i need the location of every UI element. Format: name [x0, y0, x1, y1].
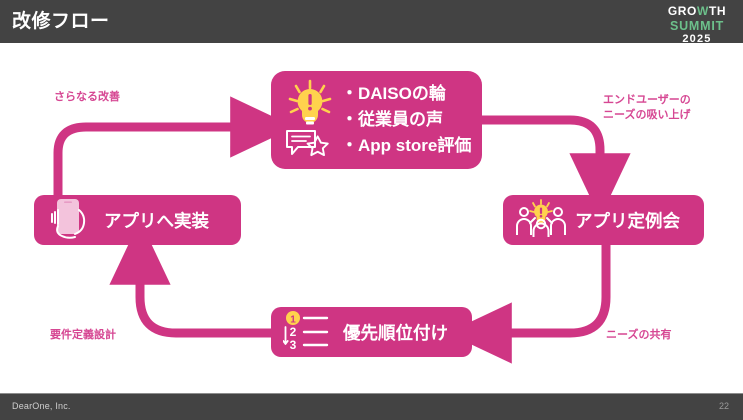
list-item: ・DAISOの輪 — [341, 81, 471, 107]
arrow-meeting-to-priority — [492, 245, 606, 333]
logo-line-growth: GROWTH — [668, 5, 726, 17]
edge-caption-line2: ニーズの吸い上げ — [603, 108, 691, 123]
numbered-list-icon: 1 2 3 — [283, 309, 333, 356]
team-meeting-idea-icon — [513, 198, 569, 243]
node-prioritization[interactable]: 1 2 3 優先順位付け — [271, 307, 472, 357]
logo-th: TH — [709, 4, 726, 18]
node-feedback-sources[interactable]: ・DAISOの輪 ・従業員の声 ・App store評価 — [271, 71, 482, 169]
logo-line-summit: SUMMIT — [659, 20, 735, 33]
slide: 改修フロー GROWTH SUMMIT 2025 — [0, 0, 743, 420]
edge-caption-further-improvement: さらなる改善 — [54, 90, 120, 105]
node-app-regular-meeting[interactable]: アプリ定例会 — [503, 195, 704, 245]
arrow-priority-to-implement — [140, 265, 271, 333]
slide-header: 改修フロー GROWTH SUMMIT 2025 — [0, 0, 743, 43]
slide-footer: DearOne, Inc. 22 — [0, 393, 743, 420]
list-item: ・従業員の声 — [341, 107, 471, 133]
arrow-sources-to-meeting — [482, 120, 600, 173]
feedback-sources-list: ・DAISOの輪 ・従業員の声 ・App store評価 — [341, 81, 471, 159]
footer-page-number: 22 — [719, 401, 729, 411]
edge-caption-end-user-needs: エンドユーザーの ニーズの吸い上げ — [603, 93, 691, 123]
logo-gro: GRO — [668, 4, 697, 18]
arrow-implement-to-sources — [58, 127, 250, 195]
svg-text:3: 3 — [290, 338, 297, 351]
growth-summit-logo: GROWTH SUMMIT 2025 — [659, 3, 735, 45]
svg-text:2: 2 — [290, 325, 297, 339]
lightbulb-speech-star-icon — [281, 77, 339, 163]
phone-in-hand-icon — [46, 196, 96, 245]
svg-text:1: 1 — [290, 314, 296, 325]
edge-caption-line1: エンドユーザーの — [603, 93, 691, 108]
node-label: アプリへ実装 — [104, 208, 209, 233]
logo-w-accent: W — [697, 4, 709, 18]
edge-caption-requirements-design: 要件定義設計 — [50, 328, 116, 343]
node-implement-in-app[interactable]: アプリへ実装 — [34, 195, 241, 245]
edge-caption-needs-sharing: ニーズの共有 — [606, 328, 671, 343]
diagram-canvas: ・DAISOの輪 ・従業員の声 ・App store評価 — [0, 43, 743, 394]
page-title: 改修フロー — [12, 10, 110, 34]
node-label: 優先順位付け — [343, 320, 448, 345]
footer-brand: DearOne, Inc. — [12, 401, 71, 411]
node-label: アプリ定例会 — [575, 208, 680, 233]
list-item: ・App store評価 — [341, 133, 471, 159]
